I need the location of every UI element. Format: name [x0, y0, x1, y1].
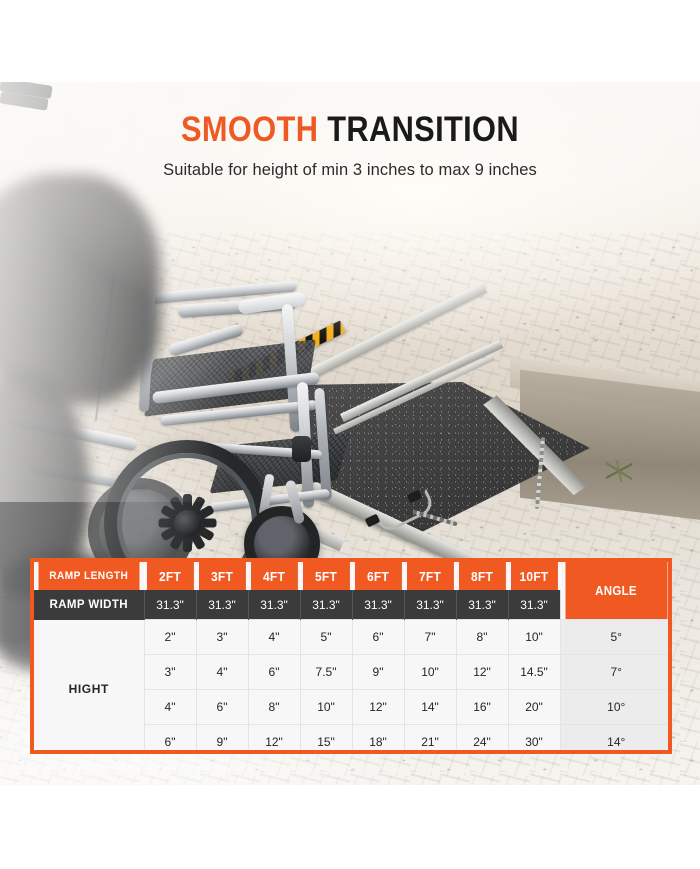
ramp-width-10ft: 31.3"	[508, 590, 560, 620]
height-r4-c6: 21"	[404, 725, 456, 755]
angle-header: ANGLE	[564, 562, 667, 620]
page-subtitle: Suitable for height of min 3 inches to m…	[0, 161, 700, 180]
height-r2-c5: 9"	[352, 655, 404, 690]
height-r4-c3: 12"	[248, 725, 300, 755]
height-r1-c8: 10"	[508, 620, 560, 655]
height-r4-c7: 24"	[456, 725, 508, 755]
ramp-width-8ft: 31.3"	[456, 590, 508, 620]
ramp-length-3ft: 3FT	[198, 562, 246, 590]
table-row-height-1: HIGHT 2" 3" 4" 5" 6" 7" 8" 10" 5°	[34, 620, 672, 655]
ramp-length-8ft: 8FT	[458, 562, 506, 590]
heading-block: SMOOTH TRANSITION Suitable for height of…	[0, 112, 700, 180]
specification-table: RAMP LENGTH 2FT 3FT 4FT 5FT 6FT 7FT 8FT …	[30, 558, 672, 754]
ramp-width-3ft: 31.3"	[196, 590, 248, 620]
angle-r1: 5°	[560, 620, 672, 655]
ramp-width-2ft: 31.3"	[144, 590, 196, 620]
ramp-length-10ft: 10FT	[510, 562, 558, 590]
ramp-length-2ft: 2FT	[146, 562, 194, 590]
height-r2-c7: 12"	[456, 655, 508, 690]
ramp-length-label: RAMP LENGTH	[38, 562, 139, 590]
height-r1-c5: 6"	[352, 620, 404, 655]
height-r2-c2: 4"	[196, 655, 248, 690]
ramp-width-6ft: 31.3"	[352, 590, 404, 620]
title-highlight: SMOOTH	[181, 110, 318, 149]
height-r1-c1: 2"	[144, 620, 196, 655]
height-r4-c2: 9"	[196, 725, 248, 755]
height-r3-c8: 20"	[508, 690, 560, 725]
height-r3-c5: 12"	[352, 690, 404, 725]
product-infographic-page: SMOOTH TRANSITION Suitable for height of…	[0, 0, 700, 869]
page-title: SMOOTH TRANSITION	[42, 112, 658, 147]
title-rest: TRANSITION	[318, 110, 519, 149]
height-r2-c4: 7.5"	[300, 655, 352, 690]
ramp-width-5ft: 31.3"	[300, 590, 352, 620]
height-r3-c2: 6"	[196, 690, 248, 725]
height-r1-c3: 4"	[248, 620, 300, 655]
ramp-length-6ft: 6FT	[354, 562, 402, 590]
ramp-width-label: RAMP WIDTH	[34, 590, 144, 620]
height-r1-c6: 7"	[404, 620, 456, 655]
angle-r2: 7°	[560, 655, 672, 690]
height-r2-c8: 14.5"	[508, 655, 560, 690]
height-r3-c3: 8"	[248, 690, 300, 725]
angle-r4: 14°	[560, 725, 672, 755]
ramp-length-5ft: 5FT	[302, 562, 350, 590]
table-row-ramp-length: RAMP LENGTH 2FT 3FT 4FT 5FT 6FT 7FT 8FT …	[34, 562, 672, 590]
height-r3-c4: 10"	[300, 690, 352, 725]
ramp-width-4ft: 31.3"	[248, 590, 300, 620]
ramp-length-7ft: 7FT	[406, 562, 454, 590]
height-r3-c7: 16"	[456, 690, 508, 725]
height-label: HIGHT	[34, 620, 144, 755]
height-r1-c4: 5"	[300, 620, 352, 655]
height-r2-c6: 10"	[404, 655, 456, 690]
height-r2-c3: 6"	[248, 655, 300, 690]
height-r1-c2: 3"	[196, 620, 248, 655]
ramp-length-4ft: 4FT	[250, 562, 298, 590]
height-r1-c7: 8"	[456, 620, 508, 655]
height-r4-c1: 6"	[144, 725, 196, 755]
height-r3-c1: 4"	[144, 690, 196, 725]
angle-r3: 10°	[560, 690, 672, 725]
spec-table-grid: RAMP LENGTH 2FT 3FT 4FT 5FT 6FT 7FT 8FT …	[34, 562, 672, 754]
height-r4-c4: 15"	[300, 725, 352, 755]
height-r4-c5: 18"	[352, 725, 404, 755]
height-r2-c1: 3"	[144, 655, 196, 690]
height-r4-c8: 30"	[508, 725, 560, 755]
height-r3-c6: 14"	[404, 690, 456, 725]
ramp-width-7ft: 31.3"	[404, 590, 456, 620]
